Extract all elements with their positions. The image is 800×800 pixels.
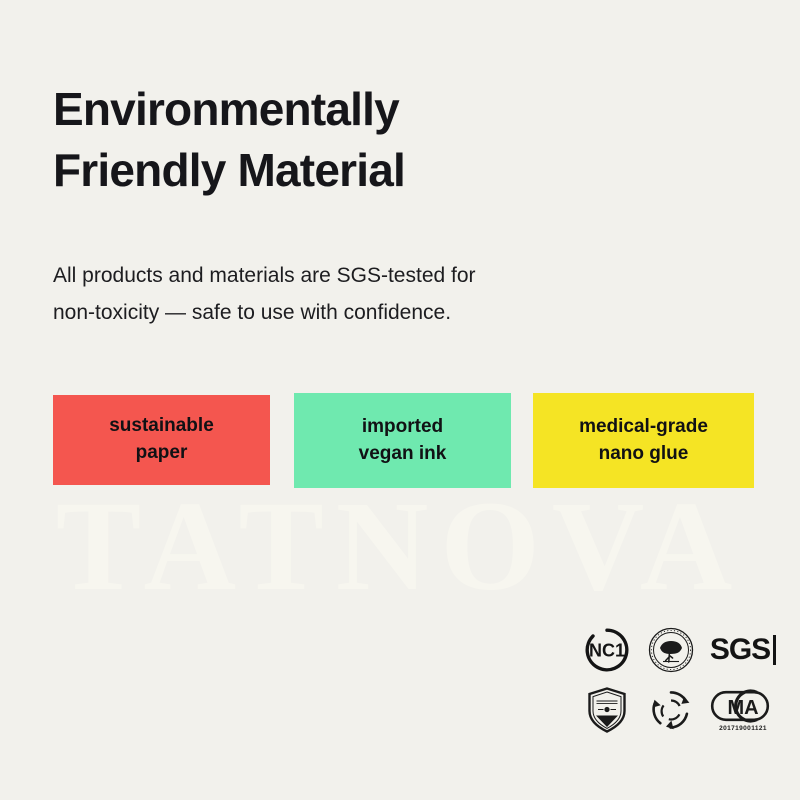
material-chip-label-line-1: medical-grade	[579, 414, 708, 441]
page-title-line-1: Environmentally	[53, 79, 693, 141]
description-text: All products and materials are SGS-teste…	[53, 257, 673, 332]
certification-badge-grid: NC1 SGS	[575, 620, 787, 742]
material-chip-sustainable-paper: sustainable paper	[53, 395, 270, 485]
material-chip-label-line-2: paper	[109, 440, 214, 467]
description-line-2: non-toxicity — safe to use with confiden…	[53, 294, 673, 331]
page-title-line-2: Friendly Material	[53, 140, 693, 202]
recycling-certification-icon	[639, 680, 703, 740]
material-chip-label-line-2: nano glue	[579, 441, 708, 468]
svg-text:NC1: NC1	[589, 641, 625, 661]
material-chip-label-line-1: sustainable	[109, 413, 214, 440]
material-chip-label-line-2: vegan ink	[359, 441, 447, 468]
material-chip-imported-vegan-ink: imported vegan ink	[294, 393, 511, 488]
description-line-1: All products and materials are SGS-teste…	[53, 257, 673, 294]
cma-label: MA	[727, 697, 758, 719]
nc1-certification-icon: NC1	[575, 620, 639, 680]
material-chip-label-line-1: imported	[359, 414, 447, 441]
cma-certificate-number: 201719001121	[719, 725, 767, 732]
poster-canvas: TATNOVA Environmentally Friendly Materia…	[0, 0, 800, 800]
page-title: Environmentally Friendly Material	[53, 79, 693, 202]
sgs-label: SGS	[710, 635, 776, 665]
cma-certification-icon: MA 201719001121	[703, 680, 783, 740]
material-chip-medical-grade-nano-glue: medical-grade nano glue	[533, 393, 754, 488]
shield-certification-icon	[575, 680, 639, 740]
sgs-certification-icon: SGS	[703, 620, 783, 680]
brand-watermark: TATNOVA	[0, 482, 800, 610]
material-chip-label: imported vegan ink	[359, 414, 447, 468]
forest-tree-certification-icon	[639, 620, 703, 680]
material-chip-label: sustainable paper	[109, 413, 214, 467]
material-chip-label: medical-grade nano glue	[579, 414, 708, 468]
material-chip-group: sustainable paper imported vegan ink med…	[53, 393, 763, 493]
